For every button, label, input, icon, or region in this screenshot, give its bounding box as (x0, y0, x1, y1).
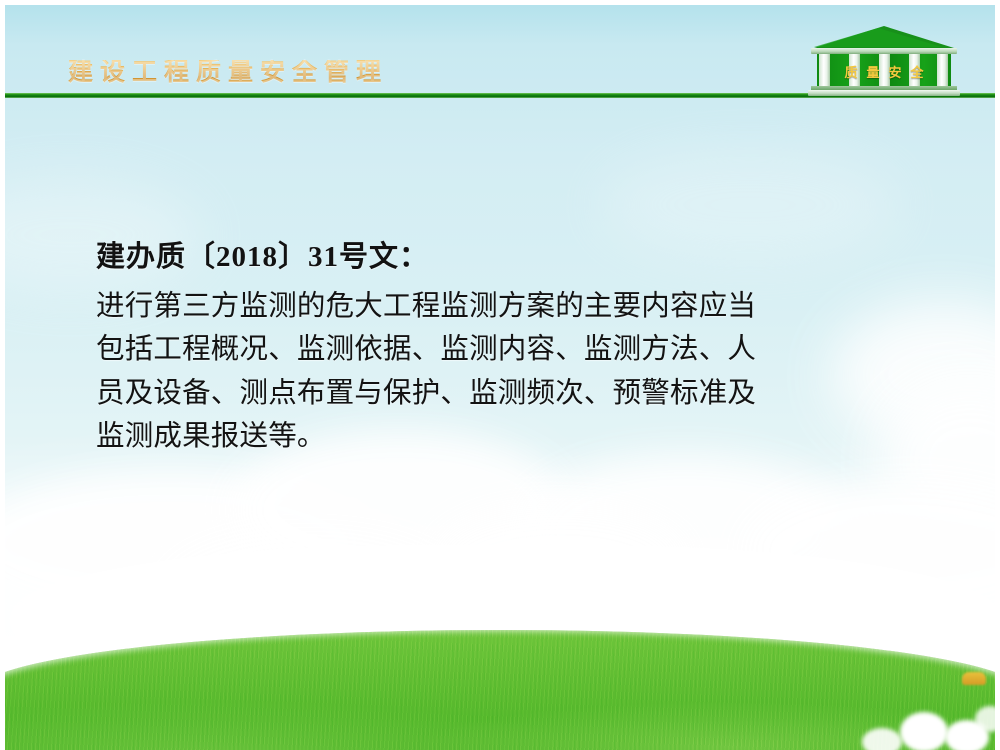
temple-base (808, 90, 960, 96)
body-line: 监测成果报送等。 (96, 415, 881, 458)
page-frame-right (995, 0, 1000, 750)
document-body-text: 进行第三方监测的危大工程监测方案的主要内容应当 包括工程概况、监测依据、监测内容… (96, 285, 881, 458)
haystack-icon (962, 672, 986, 685)
grass-hill (5, 625, 995, 750)
grass-highlight (5, 630, 995, 750)
slide-canvas: 建设工程质量安全管理 质量安全 建办质〔2018〕31号文： 进行第三方监测的危… (0, 0, 1000, 750)
sheep-icon (862, 728, 902, 750)
quality-safety-logo: 质量安全 (808, 26, 960, 96)
document-number-heading: 建办质〔2018〕31号文： (96, 238, 886, 277)
page-frame-left (0, 0, 5, 750)
body-line: 进行第三方监测的危大工程监测方案的主要内容应当 (96, 285, 881, 328)
slide-content: 建办质〔2018〕31号文： 进行第三方监测的危大工程监测方案的主要内容应当 包… (96, 238, 886, 458)
sheep-icon (900, 712, 948, 750)
body-line: 包括工程概况、监测依据、监测内容、监测方法、人 (96, 328, 881, 371)
temple-roof-highlight (814, 28, 942, 47)
slide-header: 建设工程质量安全管理 质量安全 (0, 0, 1000, 112)
body-line: 员及设备、测点布置与保护、监测频次、预警标准及 (96, 372, 881, 415)
page-title: 建设工程质量安全管理 (68, 60, 388, 85)
logo-label: 质量安全 (817, 62, 951, 81)
page-frame-top (0, 0, 1000, 5)
